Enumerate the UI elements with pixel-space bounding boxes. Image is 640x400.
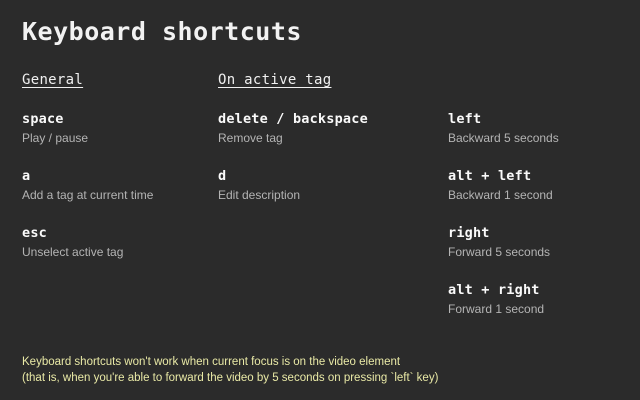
column-heading-on-active-tag: On active tag bbox=[218, 72, 448, 90]
shortcut-column-seek: left Backward 5 seconds alt + left Backw… bbox=[448, 72, 633, 339]
shortcut-row: left Backward 5 seconds bbox=[448, 111, 633, 168]
shortcut-description: Forward 1 second bbox=[448, 301, 633, 317]
shortcut-row: right Forward 5 seconds bbox=[448, 225, 633, 282]
shortcut-keys: right bbox=[448, 225, 633, 242]
shortcut-keys: esc bbox=[22, 225, 217, 242]
shortcut-description: Remove tag bbox=[218, 130, 448, 146]
shortcut-list-on-active-tag: delete / backspace Remove tag d Edit des… bbox=[218, 111, 448, 225]
shortcut-row: delete / backspace Remove tag bbox=[218, 111, 448, 168]
column-heading-general: General bbox=[22, 72, 217, 90]
footer-note-line-2: (that is, when you're able to forward th… bbox=[22, 370, 438, 386]
footer-note-line-1: Keyboard shortcuts won't work when curre… bbox=[22, 354, 438, 370]
shortcut-keys: a bbox=[22, 168, 217, 185]
shortcut-description: Forward 5 seconds bbox=[448, 244, 633, 260]
shortcut-description: Play / pause bbox=[22, 130, 217, 146]
shortcuts-overlay: Keyboard shortcuts General space Play / … bbox=[0, 0, 640, 400]
shortcut-row: alt + left Backward 1 second bbox=[448, 168, 633, 225]
column-heading-seek bbox=[448, 72, 633, 90]
shortcut-keys: alt + right bbox=[448, 282, 633, 299]
shortcut-row: d Edit description bbox=[218, 168, 448, 225]
shortcut-column-general: General space Play / pause a Add a tag a… bbox=[22, 72, 217, 282]
page-title: Keyboard shortcuts bbox=[22, 17, 302, 46]
shortcut-keys: delete / backspace bbox=[218, 111, 448, 128]
shortcut-row: esc Unselect active tag bbox=[22, 225, 217, 282]
shortcut-row: space Play / pause bbox=[22, 111, 217, 168]
shortcut-column-on-active-tag: On active tag delete / backspace Remove … bbox=[218, 72, 448, 225]
shortcut-row: alt + right Forward 1 second bbox=[448, 282, 633, 339]
shortcut-description: Add a tag at current time bbox=[22, 187, 217, 203]
shortcut-keys: space bbox=[22, 111, 217, 128]
shortcut-description: Backward 5 seconds bbox=[448, 130, 633, 146]
shortcut-description: Unselect active tag bbox=[22, 244, 217, 260]
shortcut-description: Backward 1 second bbox=[448, 187, 633, 203]
shortcut-list-seek: left Backward 5 seconds alt + left Backw… bbox=[448, 111, 633, 339]
footer-note: Keyboard shortcuts won't work when curre… bbox=[22, 354, 438, 386]
shortcut-description: Edit description bbox=[218, 187, 448, 203]
shortcut-keys: d bbox=[218, 168, 448, 185]
shortcut-row: a Add a tag at current time bbox=[22, 168, 217, 225]
shortcut-keys: alt + left bbox=[448, 168, 633, 185]
shortcut-keys: left bbox=[448, 111, 633, 128]
shortcut-list-general: space Play / pause a Add a tag at curren… bbox=[22, 111, 217, 282]
